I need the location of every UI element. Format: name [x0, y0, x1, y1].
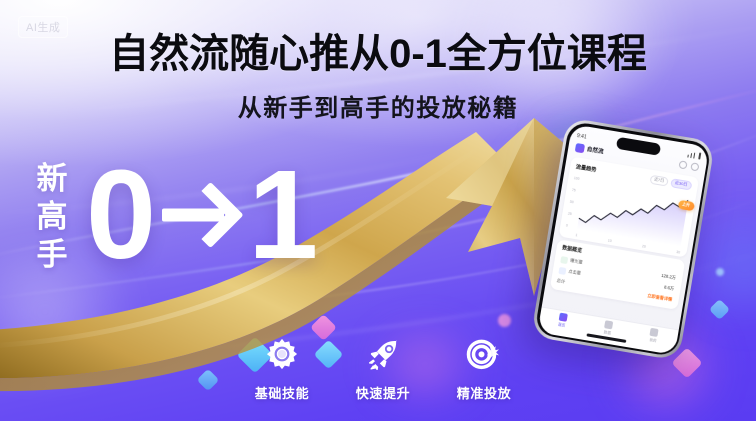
app-brand: 自然流	[574, 142, 604, 156]
hero-from-value: 0	[86, 152, 154, 278]
range-pill-7d[interactable]: 近7日	[649, 174, 668, 186]
tab-profile-label: 我的	[649, 338, 657, 344]
vertical-tag-char: 新	[37, 163, 68, 194]
vertical-tag-char: 高	[37, 201, 68, 232]
phone-mockup: 9:41 自然流	[531, 117, 716, 361]
feature-label: 快速提升	[356, 383, 410, 402]
overview-footer-value: 立即查看详情	[647, 292, 673, 302]
decor-diamond-cyan	[709, 299, 730, 320]
feature-label: 精准投放	[457, 383, 511, 402]
decor-diamond-pink	[517, 147, 537, 167]
tab-home[interactable]: 首页	[557, 313, 567, 329]
chart-title: 流量趋势	[575, 163, 597, 173]
app-bar-icons	[678, 160, 699, 171]
tab-home-label: 首页	[558, 322, 566, 328]
decor-bokeh	[716, 268, 724, 276]
user-icon[interactable]	[690, 162, 699, 171]
list-item-value: 128.2万	[661, 273, 676, 281]
list-item-label: 曝光量	[570, 258, 583, 266]
tab-data[interactable]: 数据	[603, 320, 613, 336]
feature-item-growth: 快速提升	[339, 336, 427, 402]
target-icon	[464, 336, 504, 376]
phone-screen: 9:41 自然流	[534, 121, 712, 358]
phone-frame: 9:41 自然流	[531, 117, 716, 361]
bell-icon[interactable]	[678, 160, 687, 169]
home-icon	[558, 313, 567, 322]
range-pill-30d[interactable]: 近30日	[670, 178, 692, 190]
metric-icon	[560, 255, 568, 263]
list-item-label: 点击量	[568, 268, 581, 276]
decor-diamond-blue	[197, 369, 220, 392]
right-arrow-icon	[162, 185, 240, 245]
metric-icon	[558, 266, 566, 274]
phone-app-ui: 9:41 自然流	[537, 123, 709, 354]
user-icon	[650, 328, 659, 337]
hero-zero-to-one: 0 1	[86, 152, 316, 278]
overview-footer-label: 总计	[556, 277, 565, 284]
gear-icon	[262, 336, 302, 376]
tab-profile[interactable]: 我的	[649, 328, 659, 344]
app-logo-icon	[574, 142, 584, 152]
hero-to-value: 1	[248, 152, 316, 278]
app-brand-label: 自然流	[586, 145, 604, 156]
decor-bokeh	[152, 318, 159, 325]
page-subtitle: 从新手到高手的投放秘籍	[0, 88, 756, 123]
vertical-tag: 新 高 手	[30, 163, 74, 270]
phone-tab-bar: 首页 数据 我的	[537, 306, 678, 355]
page-title: 自然流随心推从0-1全方位课程	[0, 33, 756, 75]
tab-data-label: 数据	[603, 330, 611, 336]
feature-label: 基础技能	[255, 383, 309, 402]
list-item-value: 8.6万	[664, 284, 675, 292]
rocket-icon	[363, 336, 403, 376]
feature-item-skills: 基础技能	[238, 336, 326, 402]
vertical-tag-char: 手	[37, 239, 68, 270]
feature-item-targeting: 精准投放	[440, 336, 528, 402]
decor-bokeh	[498, 314, 511, 327]
feature-list: 基础技能 快速提升 精准投放	[238, 336, 528, 402]
promo-banner: AI生成 自然流随心推从0-1全方位课程 从新手到高手的投放秘籍 新 高 手 0…	[0, 0, 756, 421]
chart-icon	[604, 320, 613, 329]
